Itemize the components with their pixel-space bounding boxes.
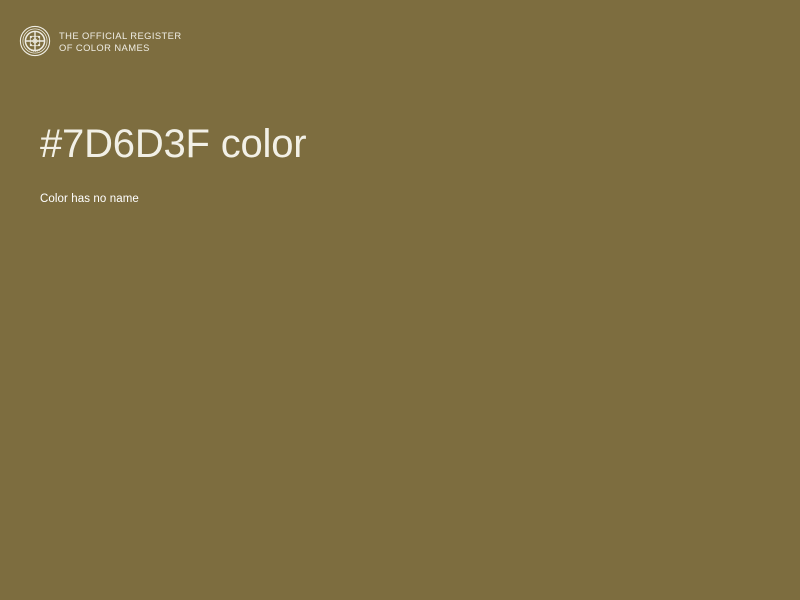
brand-name: THE OFFICIAL REGISTER OF COLOR NAMES bbox=[59, 29, 182, 53]
color-name-status: Color has no name bbox=[40, 168, 760, 206]
color-info: #7D6D3F color Color has no name bbox=[40, 120, 760, 206]
brand-line-2: OF COLOR NAMES bbox=[59, 42, 182, 54]
brand-line-1: THE OFFICIAL REGISTER bbox=[59, 30, 182, 42]
register-seal-icon bbox=[19, 25, 51, 57]
brand-lockup[interactable]: THE OFFICIAL REGISTER OF COLOR NAMES bbox=[19, 25, 182, 57]
color-swatch-page: THE OFFICIAL REGISTER OF COLOR NAMES #7D… bbox=[0, 0, 800, 600]
page-title: #7D6D3F color bbox=[40, 120, 760, 168]
